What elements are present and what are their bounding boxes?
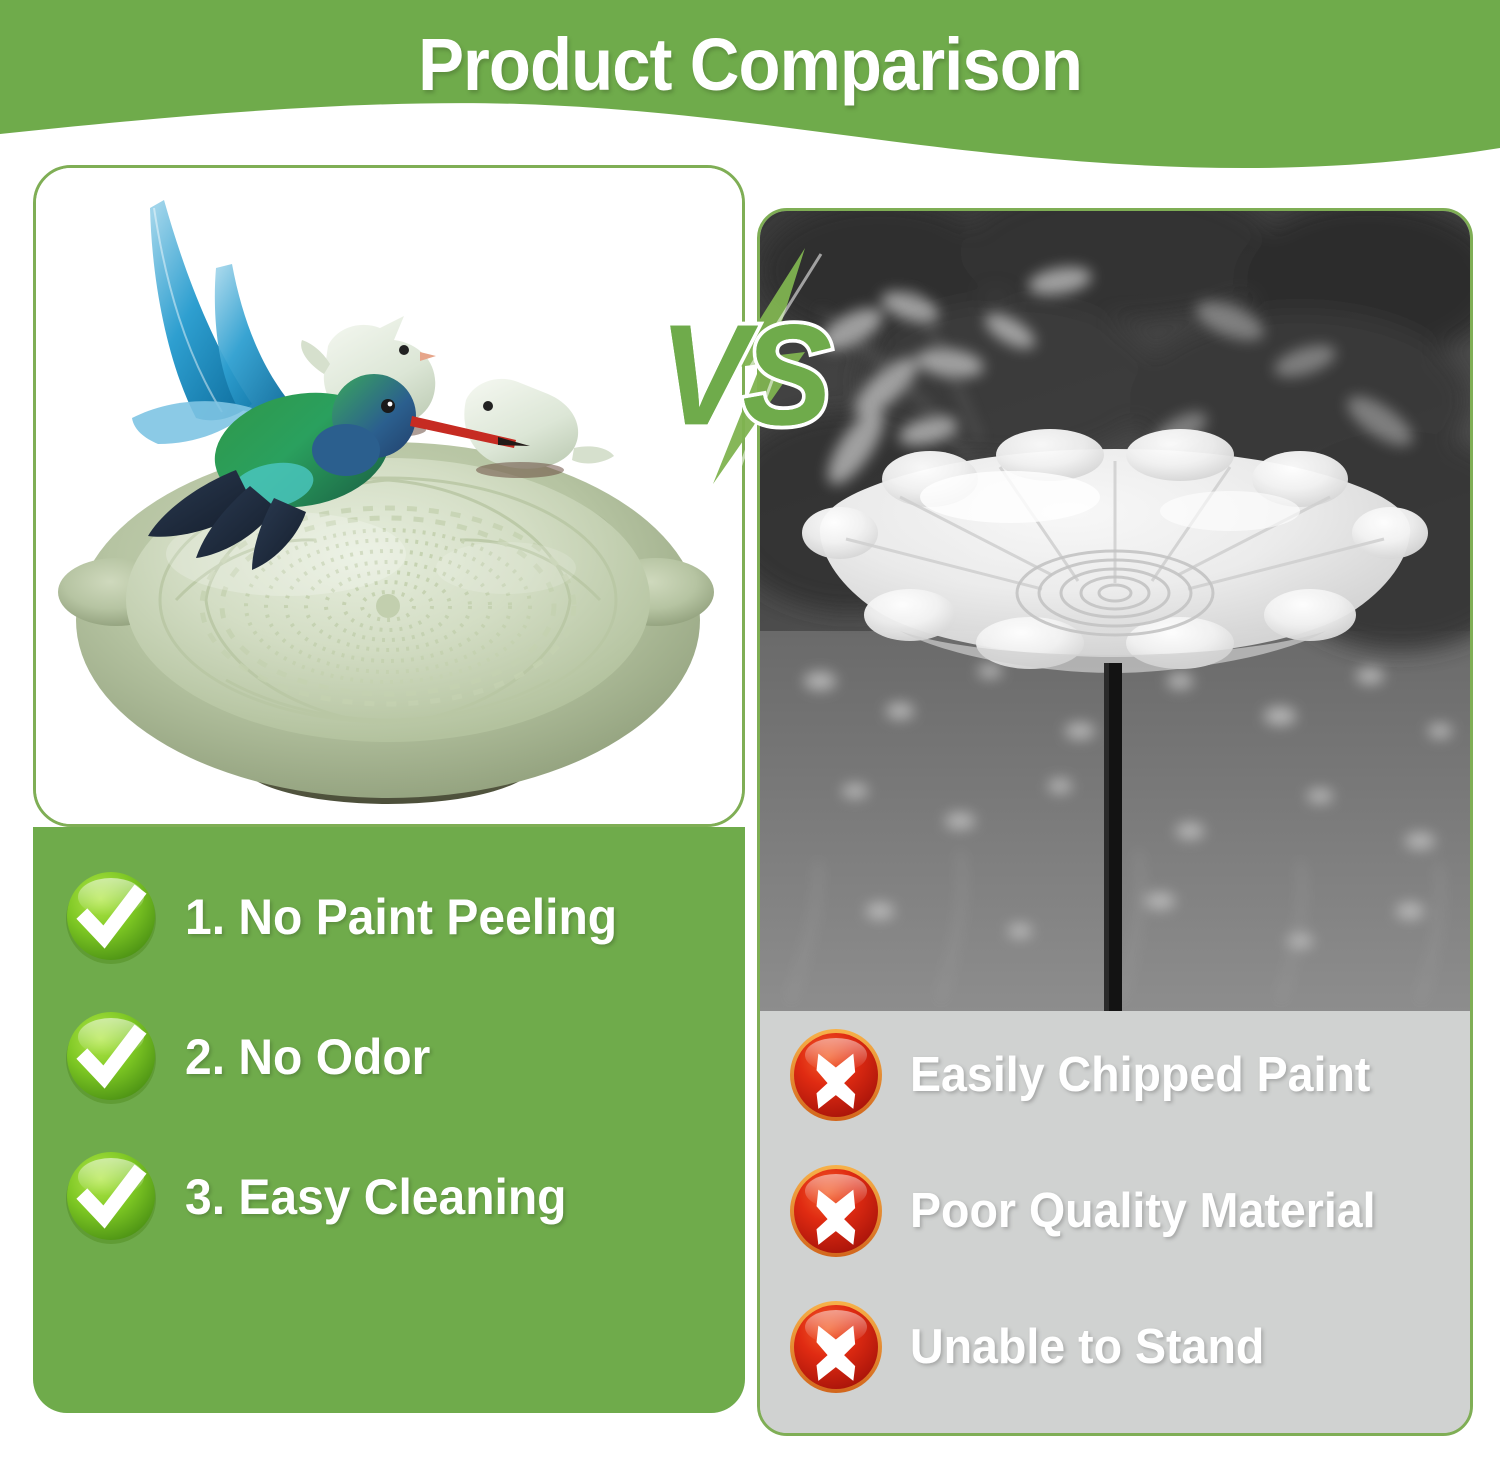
header-band: Product Comparison xyxy=(0,0,1500,175)
drawback-row-2: Poor Quality Material xyxy=(788,1159,1400,1263)
right-drawbacks-panel: Easily Chipped Paint Poor Quality Materi… xyxy=(760,1011,1470,1433)
x-circle-icon xyxy=(788,1163,884,1259)
benefit-label: 3. Easy Cleaning xyxy=(185,1168,566,1226)
benefit-label: 2. No Odor xyxy=(185,1028,430,1086)
check-circle-icon xyxy=(63,1149,159,1245)
glass-bird-bath-stake-photo xyxy=(760,211,1470,1011)
drawback-label: Easily Chipped Paint xyxy=(910,1047,1370,1103)
drawback-row-3: Unable to Stand xyxy=(788,1295,1283,1399)
benefit-row-2: 2. No Odor xyxy=(63,1005,441,1109)
check-circle-icon xyxy=(63,869,159,965)
ceramic-bird-bath-photo xyxy=(36,168,742,824)
drawback-row-1: Easily Chipped Paint xyxy=(788,1023,1395,1127)
glass-bowl-shape xyxy=(802,429,1428,673)
x-circle-icon xyxy=(788,1299,884,1395)
benefit-row-1: 1. No Paint Peeling xyxy=(63,865,635,969)
benefit-row-3: 3. Easy Cleaning xyxy=(63,1145,582,1249)
vs-badge: VS VS xyxy=(655,240,865,490)
page-title: Product Comparison xyxy=(53,22,1448,107)
drawback-label: Unable to Stand xyxy=(910,1319,1264,1375)
x-circle-icon xyxy=(788,1027,884,1123)
drawback-label: Poor Quality Material xyxy=(910,1183,1376,1239)
check-circle-icon xyxy=(63,1009,159,1105)
comparison-area: 1. No Paint Peeling 2. No Odor xyxy=(0,150,1500,1463)
left-benefits-panel: 1. No Paint Peeling 2. No Odor xyxy=(33,827,745,1413)
benefit-label: 1. No Paint Peeling xyxy=(185,888,617,946)
vs-label-fill: VS xyxy=(659,293,826,458)
left-photo-frame xyxy=(33,165,745,827)
left-product-card: 1. No Paint Peeling 2. No Odor xyxy=(33,165,745,1413)
